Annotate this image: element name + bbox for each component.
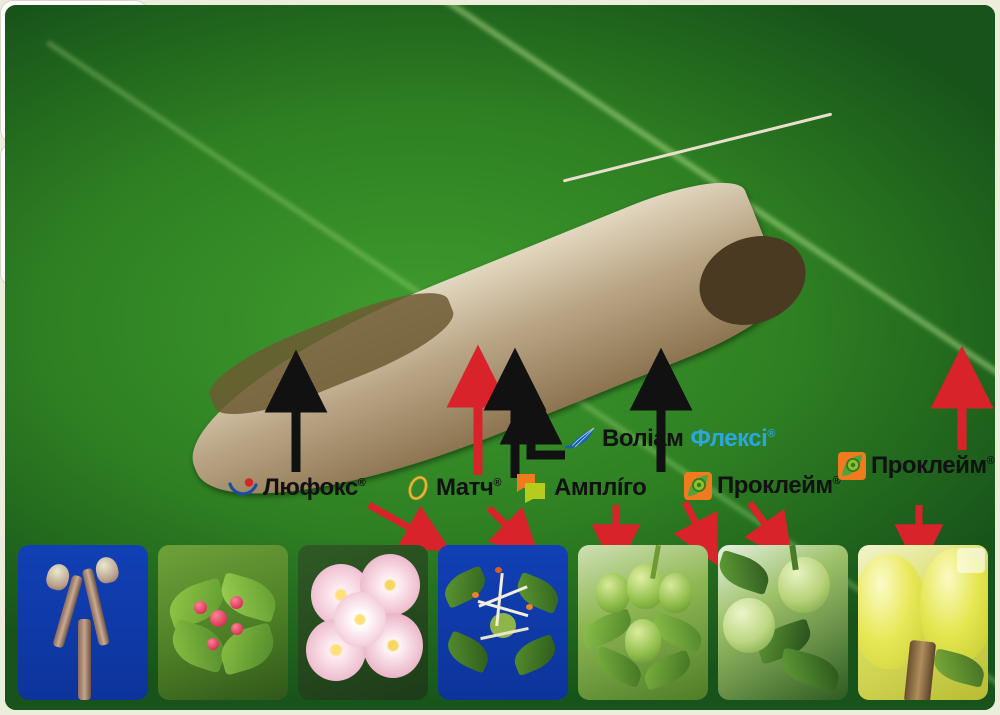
ampligo-squares-icon	[513, 472, 547, 504]
voliam-feather-icon	[563, 426, 597, 452]
fruitlet-2	[627, 564, 663, 609]
growth-stage-young-fruit-image	[718, 545, 848, 700]
product-reg-proklaim-2: ®	[987, 455, 995, 467]
product-logo-proklaim-1[interactable]: Проклейм®	[684, 472, 840, 500]
product-name-lyufoks: Люфокс®	[263, 474, 365, 502]
infographic-root: ЗАХИСТ ЯБЛУНІ ВІД ПЛОДОЖЕРКИ Літ метелик…	[0, 0, 1000, 715]
product-name-ampligo-text: Амплíго	[554, 474, 646, 501]
fruitlet-4	[625, 619, 661, 662]
match-ellipse-icon	[405, 475, 431, 501]
product-name-ampligo: Амплíго	[554, 474, 646, 502]
growth-stage-photo-bloom	[298, 545, 428, 700]
product-name-proklaim-2-text: Проклейм	[871, 452, 987, 479]
product-name-match-text: Матч	[436, 474, 493, 501]
yf-leaf-2	[778, 647, 844, 692]
product-name-voliam-text: Воліам	[602, 425, 683, 452]
yf-leaf-3	[718, 550, 774, 596]
product-logo-voliam-flexi[interactable]: Воліам Флексі®	[563, 425, 775, 453]
product-logo-ampligo[interactable]: Амплíго	[513, 472, 646, 504]
fruitlet-1	[596, 573, 630, 613]
pf-anther-1	[472, 592, 479, 598]
growth-stage-dormant-bud-image	[18, 545, 148, 700]
pf-anther-2	[526, 604, 533, 610]
pink-bud-3	[230, 596, 243, 609]
bud-right	[93, 555, 120, 585]
growth-stage-fruitlet-image	[578, 545, 708, 700]
mf-sky	[957, 548, 986, 573]
product-name-lyufoks-text: Люфокс	[263, 474, 358, 501]
product-name-proklaim-1: Проклейм®	[717, 472, 840, 500]
pink-bud-4	[231, 623, 243, 635]
photo-frame-codling-moth	[0, 143, 148, 286]
product-reg-match: ®	[493, 477, 501, 489]
growth-stage-bloom-image	[298, 545, 428, 700]
proklaim-leaf-icon	[684, 472, 712, 500]
product-name-proklaim-1-text: Проклейм	[717, 472, 833, 499]
growth-stage-green-tip-image	[158, 545, 288, 700]
growth-stage-petal-fall-image	[438, 545, 568, 700]
lyufoks-swoosh-icon	[228, 476, 258, 500]
growth-stage-photo-dormant-bud	[18, 545, 148, 700]
fruitlet-3	[659, 573, 693, 613]
product-name-voliam: Воліам	[602, 425, 683, 453]
mf-leaf	[931, 648, 988, 688]
pf-leaf-4	[510, 634, 561, 676]
pink-bud-1	[210, 610, 227, 627]
pf-anther-3	[495, 567, 502, 573]
pf-leaf-2	[512, 572, 563, 614]
bud-left	[43, 561, 71, 592]
product-logo-proklaim-2[interactable]: Проклейм®	[838, 452, 994, 480]
product-name-proklaim-2: Проклейм®	[871, 452, 994, 480]
growth-stage-mature-fruit-image	[858, 545, 988, 700]
product-logo-lyufoks[interactable]: Люфокс®	[228, 474, 365, 502]
branch-main	[78, 619, 91, 700]
product-reg-lyufoks: ®	[358, 477, 366, 489]
growth-stage-photo-fruitlet	[578, 545, 708, 700]
growth-stage-photo-mature-fruit	[858, 545, 988, 700]
product-name-flexi-text: Флексі	[690, 425, 767, 452]
growth-stage-photo-green-tip	[158, 545, 288, 700]
product-name-match: Матч®	[436, 474, 501, 502]
leaf-d	[216, 622, 280, 676]
growth-stage-photo-petal-fall	[438, 545, 568, 700]
young-apple-1	[778, 557, 830, 613]
mf-branch	[904, 640, 936, 700]
product-logo-match[interactable]: Матч®	[405, 474, 501, 502]
product-reg-voliam: ®	[767, 428, 775, 440]
proklaim-leaf-icon	[838, 452, 866, 480]
product-name-flexi: Флексі®	[690, 425, 774, 453]
growth-stage-photo-young-fruit	[718, 545, 848, 700]
